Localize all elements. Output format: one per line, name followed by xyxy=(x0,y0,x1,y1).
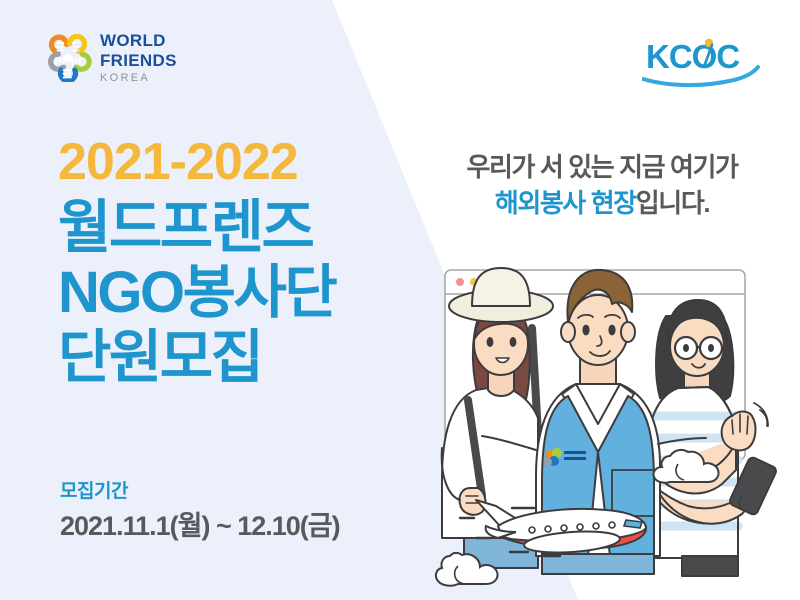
wf-logo-line-2: FRIENDS xyxy=(100,52,177,69)
headline-line-1: 월드프렌즈 xyxy=(58,196,335,261)
browser-dot-red-icon xyxy=(456,278,464,286)
slogan-line-1: 우리가 서 있는 지금 여기가 xyxy=(466,152,737,182)
headline-main: 월드프렌즈 NGO봉사단 단원모집 xyxy=(58,196,335,391)
illustration-three-volunteers xyxy=(420,238,800,600)
kcoc-logo: KCOC xyxy=(642,34,762,88)
wf-logo-line-1: WORLD xyxy=(100,32,177,49)
character-woman-with-glasses xyxy=(646,300,778,576)
headline-line-2: NGO봉사단 xyxy=(58,261,335,326)
slogan: 우리가 서 있는 지금 여기가 해외봉사 현장입니다. xyxy=(437,150,767,222)
headline-years: 2021-2022 xyxy=(58,136,298,188)
slogan-accent: 해외봉사 현장 xyxy=(495,188,636,218)
kcoc-logo-text: KCOC xyxy=(646,38,739,75)
world-friends-flower-icon xyxy=(44,34,92,82)
world-friends-wordmark: WORLD FRIENDS KOREA xyxy=(100,32,177,84)
headline-line-3: 단원모집 xyxy=(58,326,335,391)
period-label: 모집기간 xyxy=(60,481,340,504)
wf-logo-line-3: KOREA xyxy=(100,73,177,84)
vest-pocket xyxy=(612,470,654,516)
promotional-banner: WORLD FRIENDS KOREA KCOC 2021-2022 월드프렌즈… xyxy=(0,0,800,600)
world-friends-korea-logo: WORLD FRIENDS KOREA xyxy=(44,32,177,84)
slogan-line-2-rest: 입니다. xyxy=(636,188,709,218)
period-value: 2021.11.1(월) ~ 12.10(금) xyxy=(60,511,340,542)
recruitment-period: 모집기간 2021.11.1(월) ~ 12.10(금) xyxy=(60,481,340,542)
